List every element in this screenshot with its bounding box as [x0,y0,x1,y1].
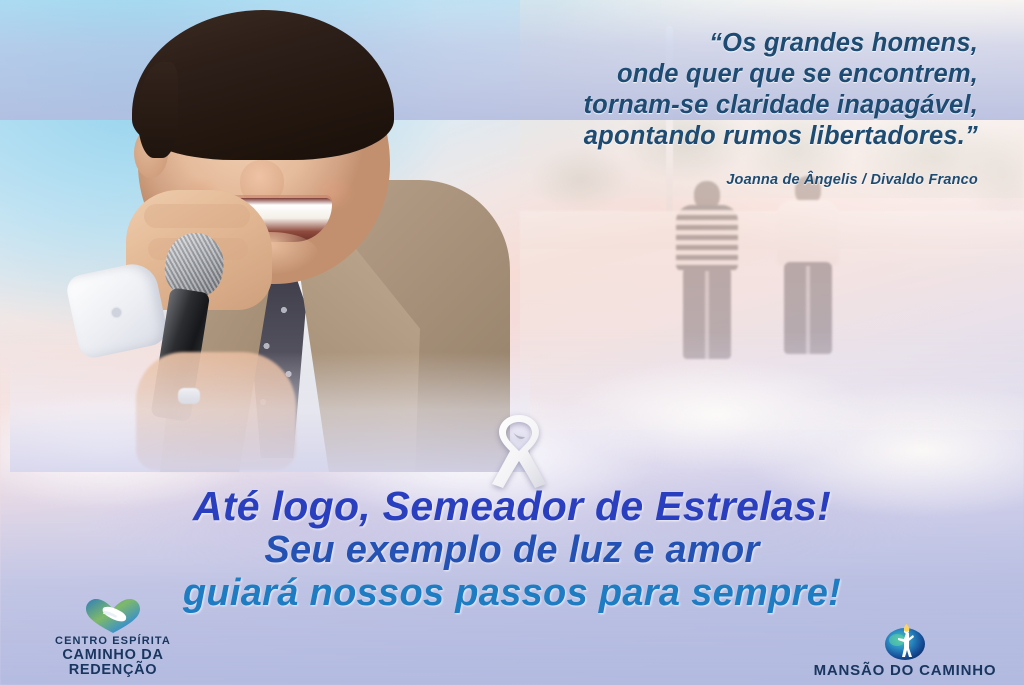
headline-line-2: Seu exemplo de luz e amor [0,529,1024,572]
quote-line-4: apontando rumos libertadores.” [418,121,978,152]
logo-mansao-do-caminho-text: MANSÃO DO CAMINHO [814,663,997,679]
scene-person-torso [777,200,839,266]
portrait-hair [132,10,394,160]
headline-block: Até logo, Semeador de Estrelas! Seu exem… [0,484,1024,615]
logo-line-1: CENTRO ESPÍRITA [18,636,208,648]
logo-line-1: MANSÃO DO CAMINHO [814,663,997,679]
heart-hands-logo-icon [84,597,142,635]
logo-centro-espirita: CENTRO ESPÍRITA CAMINHO DA REDENÇÃO [18,597,208,679]
white-awareness-ribbon-icon [482,412,556,494]
logo-line-2: CAMINHO DA REDENÇÃO [18,648,208,679]
quote-line-3: tornam-se claridade inapagável, [418,90,978,121]
quote-line-2: onde quer que se encontrem, [418,59,978,90]
logo-mansao-do-caminho: MANSÃO DO CAMINHO [800,624,1010,679]
poster-canvas: “Os grandes homens, onde quer que se enc… [0,0,1024,685]
quote-line-1: “Os grandes homens, [418,28,978,59]
portrait-cuff-button [112,308,121,317]
quote-attribution: Joanna de Ângelis / Divaldo Franco [418,172,978,188]
globe-torch-figure-logo-icon [882,624,928,662]
portrait-bottom-fade [10,352,530,472]
scene-person-torso [676,205,738,271]
headline-line-1: Até logo, Semeador de Estrelas! [0,484,1024,529]
quote-block: “Os grandes homens, onde quer que se enc… [418,28,978,152]
logo-centro-espirita-text: CENTRO ESPÍRITA CAMINHO DA REDENÇÃO [18,636,208,679]
